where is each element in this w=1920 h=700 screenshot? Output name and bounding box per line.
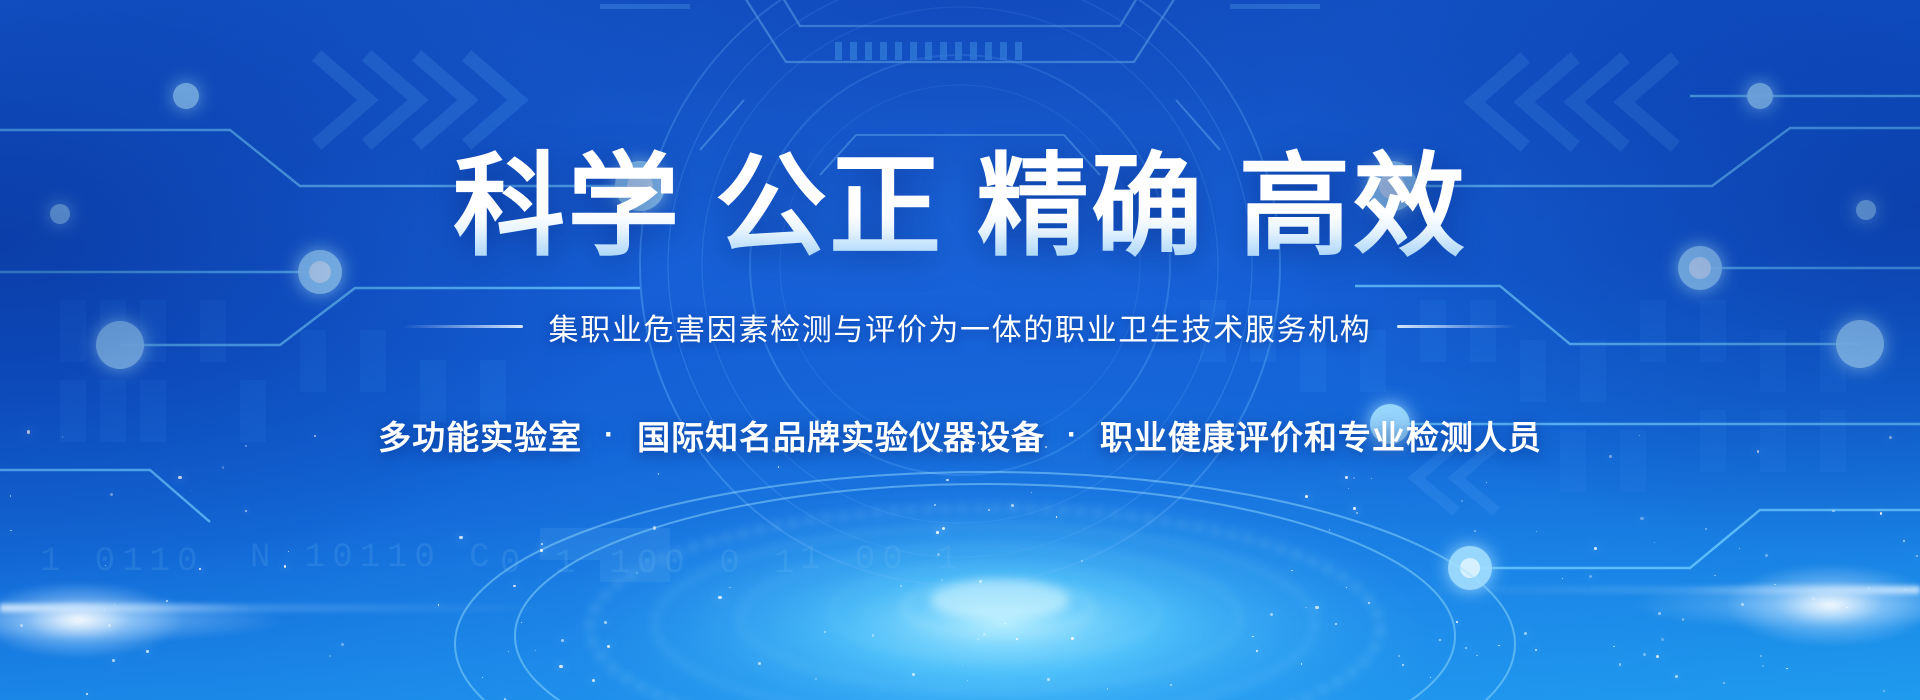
- tagline-separator: ·: [604, 418, 615, 452]
- hero-banner: 1 0110 N 10110 C 0 1 100 0 1 1 00 1 科学 公…: [0, 0, 1920, 700]
- tagline-item: 职业健康评价和专业检测人员: [1100, 411, 1542, 459]
- tagline-item: 多功能实验室: [378, 411, 582, 459]
- banner-content: 科学 公正 精确 高效 集职业危害因素检测与评价为一体的职业卫生技术服务机构 多…: [0, 0, 1920, 700]
- tagline-item: 国际知名品牌实验仪器设备: [637, 411, 1045, 459]
- banner-subtitle: 集职业危害因素检测与评价为一体的职业卫生技术服务机构: [549, 305, 1372, 349]
- banner-tagline: 多功能实验室·国际知名品牌实验仪器设备·职业健康评价和专业检测人员: [378, 411, 1542, 459]
- banner-subtitle-row: 集职业危害因素检测与评价为一体的职业卫生技术服务机构: [403, 305, 1518, 349]
- subtitle-rule-left: [403, 325, 523, 328]
- banner-headline: 科学 公正 精确 高效: [453, 148, 1467, 267]
- tagline-separator: ·: [1067, 418, 1078, 452]
- subtitle-rule-right: [1397, 325, 1517, 328]
